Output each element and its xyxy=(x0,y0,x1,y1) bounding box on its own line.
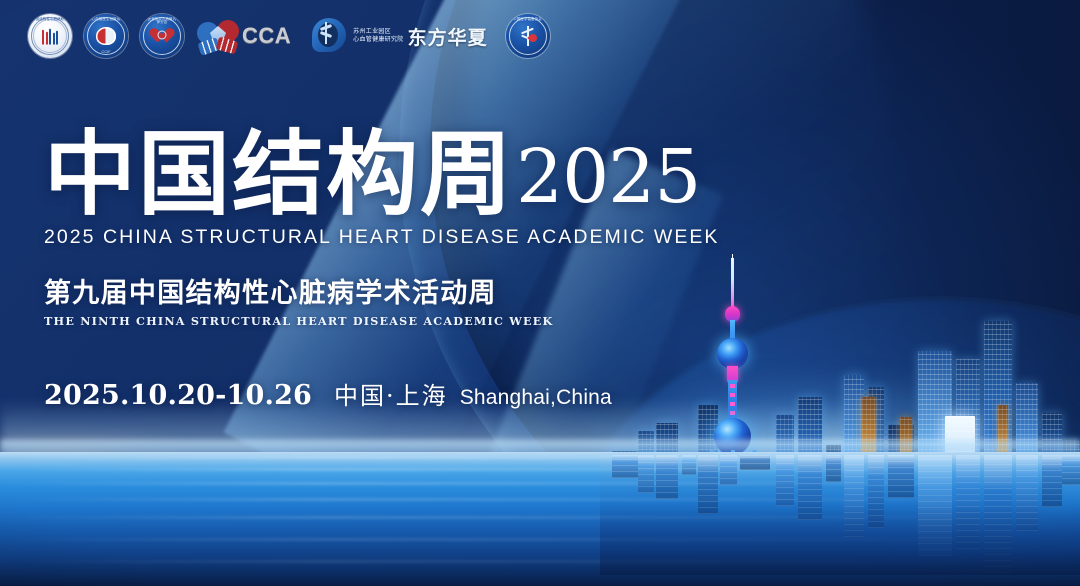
ccif-mark-icon xyxy=(96,27,116,45)
event-dates: 2025.10.20-10.26 xyxy=(44,380,312,411)
main-title-english: 2025 CHINA STRUCTURAL HEART DISEASE ACAD… xyxy=(44,226,720,249)
conference-banner: 中国结构性心脏病联盟 中国心血管医生创新俱乐部 CCIF xyxy=(0,0,1080,586)
logo-dongfang-huaxia[interactable]: 苏州工业园区 心血管健康研究院 东方华夏 xyxy=(309,16,487,56)
event-location-english: Shanghai,China xyxy=(460,386,612,410)
logo-ccif[interactable]: 中国心血管医生创新俱乐部 CCIF xyxy=(84,14,128,58)
logo-china-structural-heart-alliance[interactable]: 中国结构性心脏病联盟 xyxy=(28,14,72,58)
skyline-reflection xyxy=(600,455,1080,575)
logo-cca[interactable]: CCA xyxy=(196,16,291,56)
clasped-hands-heart-icon xyxy=(196,16,240,56)
main-title-chinese: 中国结构周 xyxy=(44,130,514,218)
logo-sub-text: CCIF xyxy=(84,49,128,54)
sub-title-english: THE NINTH CHINA STRUCTURAL HEART DISEASE… xyxy=(44,314,720,328)
event-location-chinese: 中国·上海 xyxy=(334,376,448,411)
logo-arc-text: 中国结构性心脏病联盟 xyxy=(28,18,72,21)
logo-arc-text: 中国医师协会心血管内科医师分会 xyxy=(140,18,184,25)
logo-arc-text: 中国心血管医生创新俱乐部 xyxy=(84,18,128,21)
sub-title-chinese: 第九届中国结构性心脏病学术活动周 xyxy=(44,271,720,310)
heart-icon xyxy=(154,29,171,44)
asclepius-heart-icon xyxy=(517,25,539,47)
dongfang-huaxia-wordmark: 东方华夏 xyxy=(408,23,488,50)
logo-cardiology-society[interactable]: 中国医师协会心血管内科医师分会 xyxy=(140,14,184,58)
logo-medical-association[interactable]: 中国医学装备协会 xyxy=(506,14,550,58)
title-block: 中国结构周 2025 2025 CHINA STRUCTURAL HEART D… xyxy=(44,130,720,328)
asclepius-staff-icon xyxy=(309,16,349,56)
cca-wordmark: CCA xyxy=(242,23,291,49)
main-title-year: 2025 xyxy=(516,140,700,214)
event-details: 2025.10.20-10.26 中国·上海 Shanghai,China xyxy=(44,376,612,411)
institute-line-1: 苏州工业园区 xyxy=(353,29,403,36)
sponsor-logo-bar: 中国结构性心脏病联盟 中国心血管医生创新俱乐部 CCIF xyxy=(28,12,550,60)
logo-arc-text: 中国医学装备协会 xyxy=(506,18,550,21)
institute-line-2: 心血管健康研究院 xyxy=(353,37,403,44)
